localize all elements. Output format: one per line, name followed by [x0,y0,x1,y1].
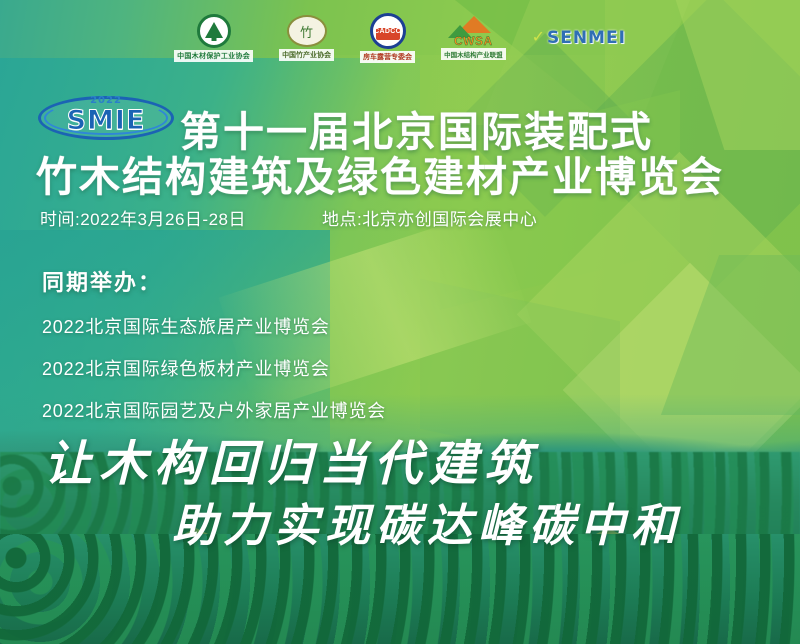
list-item: 2022北京国际生态旅居产业博览会 [42,313,386,339]
slogan-line1: 让木构回归当代建筑 [44,424,539,494]
concurrent-heading: 同期举办： [42,265,386,297]
page-title-line2: 竹木结构建筑及绿色建材产业博览会 [36,143,724,203]
logo-caption: 中国木结构产业联盟 [441,48,506,60]
list-item: 2022北京国际园艺及户外家居产业博览会 [42,397,386,423]
logo-abbr: CWSA [447,34,499,48]
logo-caption: 中国木材保护工业协会 [174,50,253,62]
leaf-icon: ✓ [532,30,545,46]
logo-abbr: SENMEI [547,28,626,48]
list-item: 2022北京国际绿色板材产业博览会 [42,355,386,381]
smie-logo[interactable]: 2022 SMIE [38,96,174,140]
event-date: 时间:2022年3月26日-28日 [40,205,246,230]
logo-caption: 中国竹产业协会 [279,49,334,61]
logo-china-timber-protection-association[interactable]: 中国木材保护工业协会 [174,14,253,62]
smie-wordmark: SMIE [38,105,174,136]
logo-senmei-brand[interactable]: ✓ SENMEI [532,28,626,48]
bamboo-seal-icon: 竹 [287,15,327,47]
logo-bamboo-industry-association[interactable]: 竹 中国竹产业协会 [279,15,334,61]
concurrent-events-list: 2022北京国际生态旅居产业博览会 2022北京国际绿色板材产业博览会 2022… [42,313,386,423]
logo-china-wood-structure-alliance[interactable]: CWSA 中国木结构产业联盟 [441,16,506,60]
bamboo-glyph: 竹 [300,22,313,41]
house-roof-icon: CWSA [447,16,499,46]
concurrent-events-block: 同期举办： 2022北京国际生态旅居产业博览会 2022北京国际绿色板材产业博览… [42,265,386,439]
logo-abbr: CADCC [374,28,401,35]
expo-poster: 中国木材保护工业协会 竹 中国竹产业协会 CADCC 房车露营专委会 CWSA … [0,0,800,644]
organizer-logo-strip: 中国木材保护工业协会 竹 中国竹产业协会 CADCC 房车露营专委会 CWSA … [0,10,800,66]
slogan-line2: 助力实现碳达峰碳中和 [172,489,682,554]
logo-caption: 房车露营专委会 [360,51,415,63]
logo-rv-camping-committee[interactable]: CADCC 房车露营专委会 [360,13,415,63]
event-meta: 时间:2022年3月26日-28日 地点:北京亦创国际会展中心 [40,205,760,230]
tree-emblem-icon [197,14,231,48]
cadcc-seal-icon: CADCC [370,13,406,49]
event-venue: 地点:北京亦创国际会展中心 [322,205,537,230]
